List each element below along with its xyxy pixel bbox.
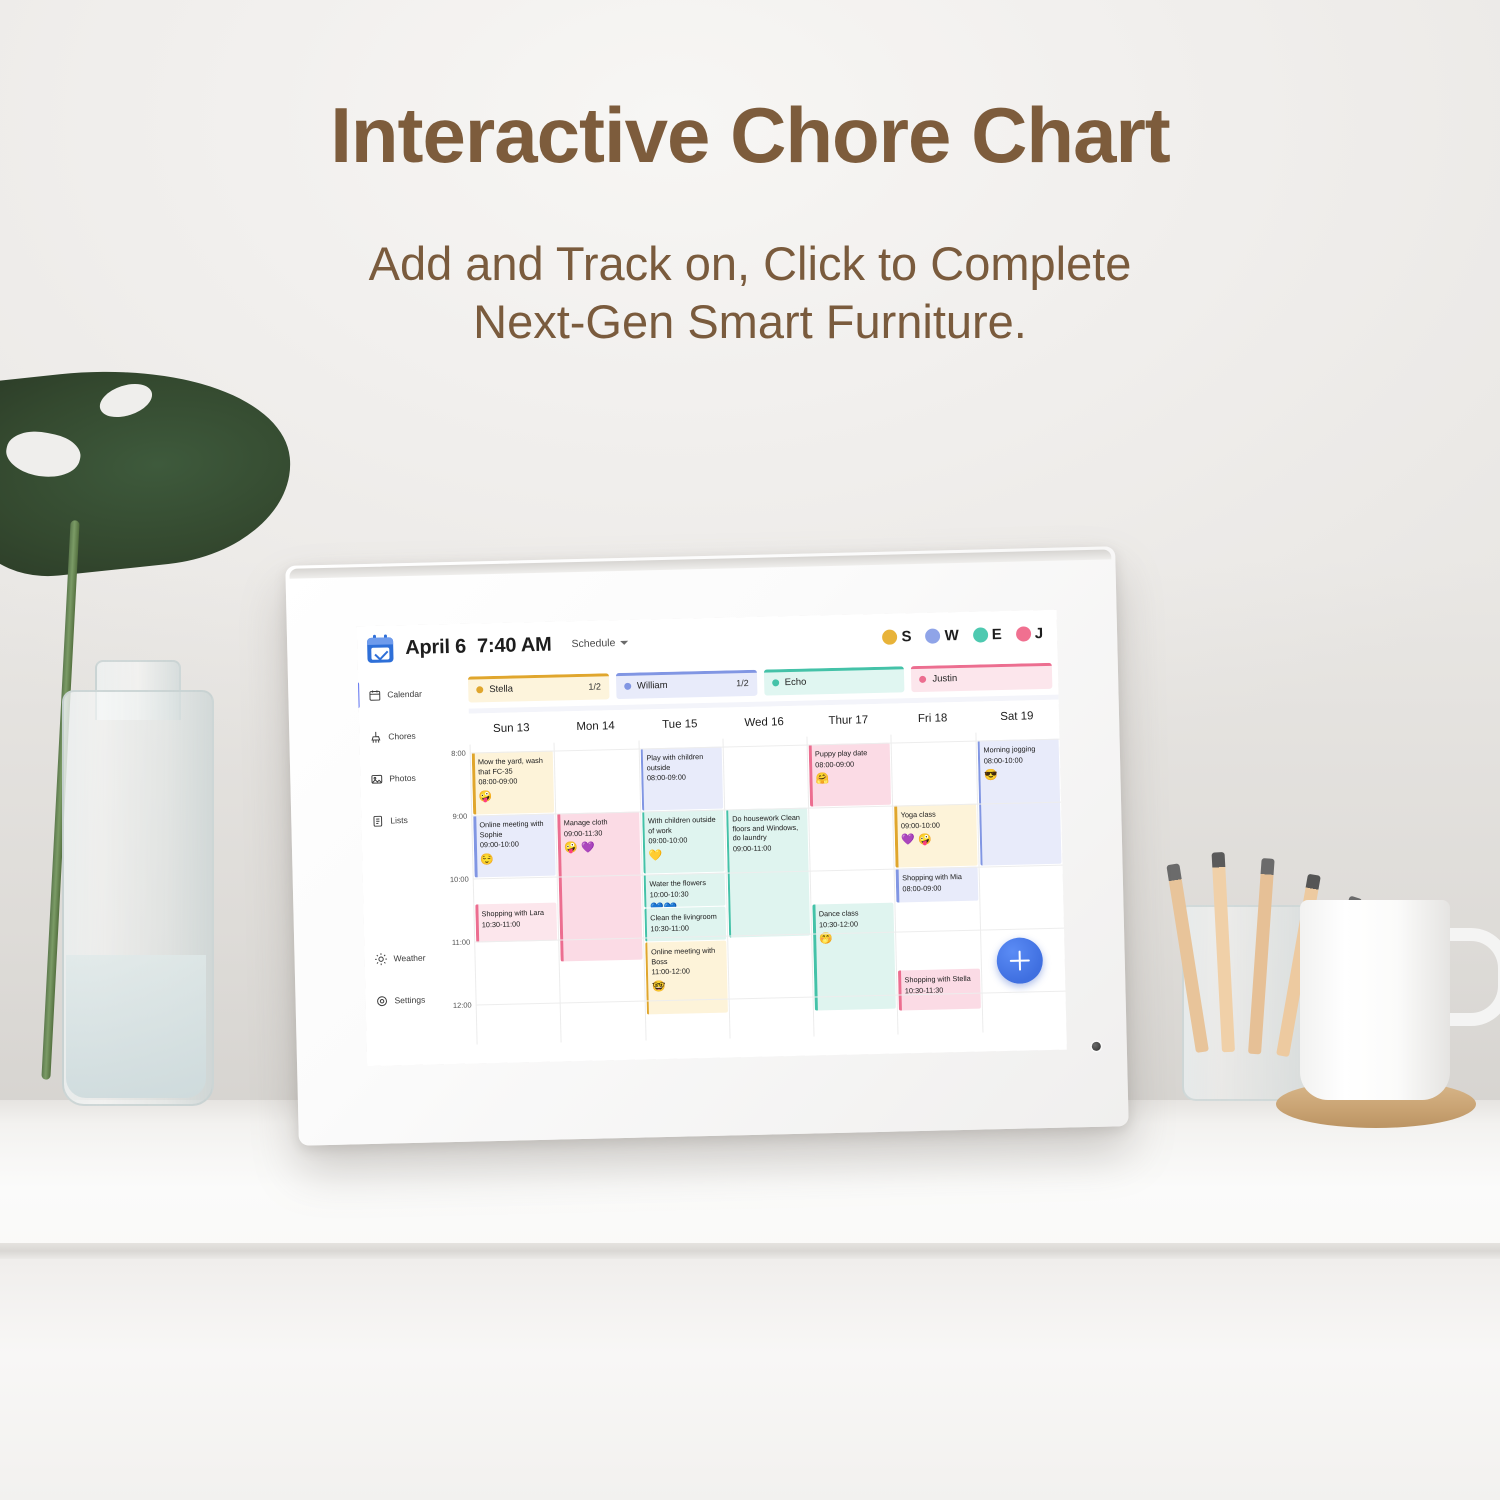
event-title: Shopping with Lara [481, 908, 551, 919]
event-accent-bar [473, 815, 477, 877]
event-time: 10:30-11:00 [650, 922, 720, 933]
avatar-letter: W [944, 627, 959, 644]
app-body: CalendarChoresPhotosListsWeatherSettings… [358, 656, 1067, 1066]
sidebar-item-label: Lists [390, 815, 408, 825]
promo-subline-2: Next-Gen Smart Furniture. [0, 293, 1500, 351]
event-title: Shopping with Mia [902, 872, 972, 883]
member-dot [772, 679, 779, 686]
day-column[interactable]: Yoga class09:00-10:00💜 🤪Shopping with Mi… [891, 733, 982, 1035]
calendar-event[interactable]: Online meeting with Boss11:00-12:00🤓 [645, 941, 728, 1015]
sidebar-item-label: Chores [388, 731, 416, 742]
member-dot [476, 686, 483, 693]
calendar-grid: 8:009:0010:0011:0012:00 Mow the yard, wa… [432, 731, 1067, 1046]
event-emoji: 🤭 [819, 934, 833, 945]
avatar-william[interactable]: W [925, 627, 959, 645]
sidebar-item-chores[interactable]: Chores [359, 722, 432, 750]
member-dot [919, 675, 926, 682]
event-title: Online meeting with Boss [651, 946, 722, 967]
event-title: Dance class [819, 908, 889, 919]
event-emoji: 💛 [649, 851, 663, 862]
event-emoji: 🤗 [815, 775, 829, 786]
event-accent-bar [896, 868, 899, 902]
member-chip-william[interactable]: William1/2 [616, 670, 757, 699]
event-emoji: 🤓 [652, 982, 666, 993]
event-title: With children outside of work [648, 815, 719, 836]
member-name: Stella [489, 683, 513, 695]
avatar-letter: J [1035, 625, 1044, 642]
event-title: Yoga class [901, 809, 971, 820]
calendar-event[interactable]: Play with children outside08:00-09:00 [640, 747, 723, 811]
event-time: 10:30-12:00 [819, 918, 889, 929]
member-dot [624, 682, 631, 689]
day-column[interactable]: Manage cloth09:00-11:30🤪 💜 [554, 741, 645, 1043]
calendar-event[interactable]: With children outside of work09:00-10:00… [642, 810, 725, 874]
time-label: 8:00 [451, 749, 466, 758]
event-title: Manage cloth [564, 817, 634, 828]
event-emoji: 🤪 [479, 792, 493, 803]
event-time: 08:00-09:00 [647, 772, 717, 783]
day-header[interactable]: Wed 16 [722, 706, 807, 739]
calendar-event[interactable]: Shopping with Stella10:30-11:30 [898, 969, 980, 1011]
view-select-label: Schedule [571, 637, 615, 650]
member-progress: 1/2 [588, 681, 601, 691]
calendar-panel: Stella1/2William1/2EchoJustin Sun 13Mon … [430, 656, 1067, 1065]
time-label: 11:00 [452, 938, 470, 947]
chip-accent-bar [468, 673, 609, 679]
sidebar-item-label: Settings [394, 995, 425, 1006]
sidebar-item-lists[interactable]: Lists [361, 806, 434, 834]
event-time: 08:00-09:00 [815, 758, 885, 769]
day-header[interactable]: Mon 14 [553, 710, 638, 743]
event-time: 08:00-10:00 [984, 755, 1054, 766]
event-accent-bar [640, 748, 644, 810]
shelf-edge [0, 1243, 1500, 1259]
sidebar-item-label: Weather [393, 953, 425, 964]
gear-icon [375, 994, 388, 1007]
avatar-dot [1016, 626, 1031, 641]
calendar-event[interactable]: Online meeting with Sophie09:00-10:00😌 [473, 814, 556, 878]
smart-display-device: April 6 7:40 AM Schedule SWEJ CalendarCh… [285, 546, 1128, 1145]
event-accent-bar [642, 811, 646, 873]
event-time: 09:00-10:00 [648, 835, 718, 846]
event-accent-bar [895, 806, 899, 868]
avatar-justin[interactable]: J [1016, 625, 1044, 643]
sidebar-spacer [362, 848, 436, 946]
device-screen: April 6 7:40 AM Schedule SWEJ CalendarCh… [357, 610, 1067, 1066]
day-column[interactable]: Mow the yard, wash that FC-3508:00-09:00… [470, 743, 561, 1045]
day-column[interactable]: Morning jogging08:00-10:00😎 [975, 731, 1066, 1033]
event-accent-bar [898, 970, 901, 1010]
avatar-dot [925, 628, 940, 643]
sidebar-item-settings[interactable]: Settings [365, 986, 438, 1014]
list-icon [371, 814, 384, 827]
photo-icon [370, 772, 383, 785]
member-progress: 1/2 [736, 678, 749, 688]
avatar-letter: E [992, 625, 1002, 642]
event-emoji: 🤪 💜 [564, 843, 595, 855]
member-name: Justin [932, 673, 957, 685]
time-label: 10:00 [450, 875, 469, 884]
sidebar-item-weather[interactable]: Weather [364, 944, 437, 972]
day-column[interactable]: Play with children outside08:00-09:00Wit… [638, 739, 729, 1041]
event-time: 09:00-10:00 [901, 819, 971, 830]
sidebar-item-photos[interactable]: Photos [360, 764, 433, 792]
event-title: Water the flowers [649, 878, 719, 889]
sidebar: CalendarChoresPhotosListsWeatherSettings [358, 670, 439, 1066]
calendar-event[interactable]: Puppy play date08:00-09:00🤗 [809, 743, 892, 807]
sun-icon [374, 952, 387, 965]
sidebar-item-calendar[interactable]: Calendar [358, 680, 431, 708]
chip-accent-bar [911, 663, 1052, 669]
member-chip-justin[interactable]: Justin [911, 663, 1052, 692]
avatar-dot [882, 629, 897, 644]
day-header[interactable]: Thur 17 [806, 704, 891, 737]
chip-accent-bar [616, 670, 757, 676]
calendar-check-icon [367, 634, 394, 663]
chevron-down-icon [620, 641, 628, 645]
event-accent-bar [813, 904, 818, 1010]
day-column[interactable]: Puppy play date08:00-09:00🤗Dance class10… [807, 735, 898, 1037]
event-time: 09:00-10:00 [480, 839, 550, 850]
event-title: Puppy play date [815, 748, 885, 759]
promo-subline-1: Add and Track on, Click to Complete [0, 235, 1500, 293]
view-select[interactable]: Schedule [571, 637, 628, 650]
day-header[interactable]: Sun 13 [469, 712, 554, 745]
event-title: Shopping with Stella [905, 974, 975, 985]
event-time: 10:30-11:00 [482, 918, 552, 929]
member-name: William [637, 679, 668, 691]
current-date: April 6 [405, 635, 466, 659]
event-time: 08:00-09:00 [902, 882, 972, 893]
event-title: Morning jogging [983, 744, 1053, 755]
calendar-event[interactable]: Mow the yard, wash that FC-3508:00-09:00… [472, 751, 555, 815]
avatar-list: SWEJ [882, 625, 1043, 646]
white-mug [1300, 900, 1450, 1100]
calendar-event[interactable]: Yoga class09:00-10:00💜 🤪 [895, 804, 978, 868]
event-time: 09:00-11:30 [564, 827, 634, 838]
avatar-letter: S [901, 628, 911, 645]
time-label: 9:00 [453, 812, 468, 821]
avatar-stella[interactable]: S [882, 628, 911, 646]
event-title: Mow the yard, wash that FC-35 [478, 756, 549, 777]
calendar-event[interactable]: Water the flowers10:00-10:30💙💙 [643, 873, 725, 908]
avatar-dot [973, 627, 988, 642]
promo-subheadline: Add and Track on, Click to Complete Next… [0, 235, 1500, 351]
member-chip-echo[interactable]: Echo [763, 666, 904, 695]
event-emoji: 😌 [480, 855, 494, 866]
event-accent-bar [643, 874, 646, 907]
sidebar-item-label: Calendar [387, 689, 422, 700]
promo-headline: Interactive Chore Chart [0, 96, 1500, 174]
calendar-event[interactable]: Shopping with Lara10:30-11:00 [475, 903, 557, 943]
day-header[interactable]: Sat 19 [974, 700, 1059, 733]
calendar-icon [368, 688, 381, 701]
avatar-echo[interactable]: E [973, 625, 1002, 643]
sidebar-item-label: Photos [389, 773, 416, 784]
day-header[interactable]: Fri 18 [890, 702, 975, 735]
chip-accent-bar [763, 666, 904, 672]
event-accent-bar [475, 904, 478, 942]
member-chip-stella[interactable]: Stella1/2 [468, 673, 609, 702]
event-time: 09:00-11:00 [733, 843, 803, 854]
event-time: 08:00-09:00 [478, 776, 548, 787]
event-emoji: 💜 🤪 [901, 835, 932, 847]
event-title: Do housework Clean floors and Windows, d… [732, 813, 803, 844]
broom-icon [369, 730, 382, 743]
shelf-front-panel [0, 1259, 1500, 1500]
day-header[interactable]: Tue 15 [637, 708, 722, 741]
event-title: Clean the livingroom [650, 912, 720, 923]
member-name: Echo [785, 676, 807, 688]
day-column[interactable]: Do housework Clean floors and Windows, d… [722, 737, 813, 1039]
vase-water [66, 955, 206, 1098]
event-accent-bar [472, 752, 476, 814]
current-time: 7:40 AM [477, 633, 552, 658]
event-title: Play with children outside [646, 752, 717, 773]
event-accent-bar [645, 942, 649, 1014]
event-accent-bar [809, 745, 813, 807]
event-emoji: 😎 [984, 771, 998, 782]
event-time: 10:00-10:30 [650, 888, 720, 899]
event-time: 11:00-12:00 [651, 966, 721, 977]
time-label: 12:00 [453, 1001, 472, 1010]
event-title: Online meeting with Sophie [479, 819, 550, 840]
calendar-event[interactable]: Shopping with Mia08:00-09:00 [896, 867, 978, 903]
